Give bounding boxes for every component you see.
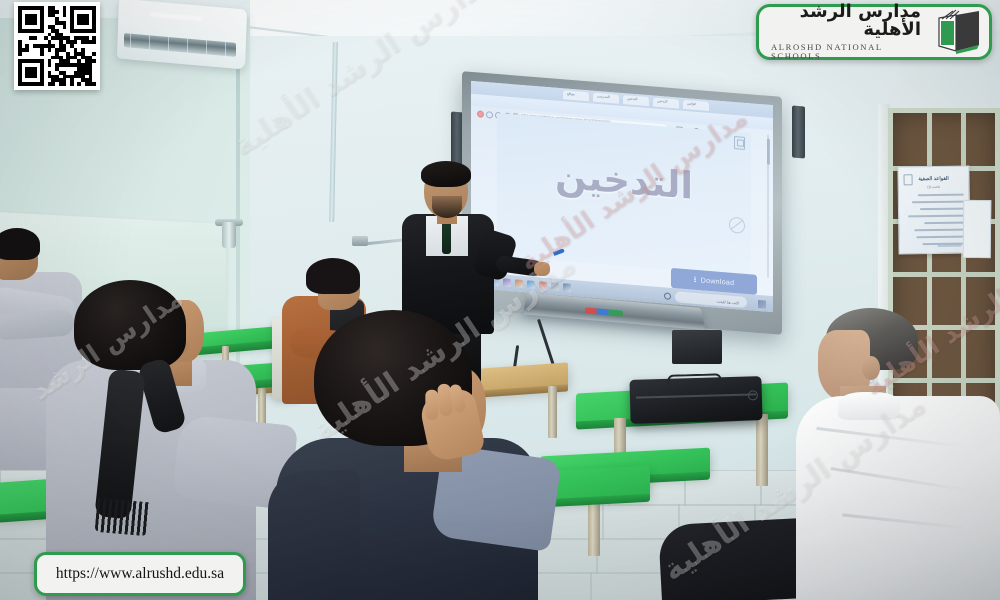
thobe-man-collar: [838, 392, 900, 420]
browser-tab-label: التدخين: [627, 96, 637, 101]
scrollbar-thumb[interactable]: [767, 139, 770, 165]
taskbar-app-icon[interactable]: [551, 282, 559, 291]
website-url-text: https://www.alrushd.edu.sa: [56, 565, 224, 583]
poster-text-line: [920, 208, 964, 211]
taskbar-app-icon[interactable]: [503, 278, 511, 287]
thobe-man-body: [796, 396, 1000, 600]
ac-louver: [206, 40, 207, 54]
ac-louver: [149, 35, 150, 49]
board-screen[interactable]: قوانينالتدخينالتدخينالمدرسيمواقع https:/…: [471, 81, 773, 312]
desk-leg-center-right: [548, 386, 557, 438]
browser-menu-icon[interactable]: [477, 110, 484, 118]
student-b-hair: [74, 280, 186, 370]
logo-english-name: ALROSHD NATIONAL SCHOOLS: [771, 43, 921, 60]
download-icon: ⭳: [694, 276, 697, 284]
classroom-photo: القواعد الصفية قاعدة (1) قوانينالتدخينال…: [0, 0, 1000, 600]
teacher-beard: [432, 196, 462, 218]
website-url-badge[interactable]: https://www.alrushd.edu.sa: [34, 552, 246, 596]
blind-rod: [222, 222, 236, 248]
ac-louver: [130, 34, 131, 48]
browser-tab-label: التدخين: [657, 99, 667, 104]
poster-text-line: [912, 201, 964, 204]
browser-tab-label: مواقع: [567, 92, 575, 97]
student-a-hair: [0, 228, 40, 260]
poster-signature: [937, 245, 961, 247]
poster-subtitle: قاعدة (1): [899, 185, 969, 190]
ac-louver: [225, 42, 226, 56]
interactive-whiteboard[interactable]: قوانينالتدخينالتدخينالمدرسيمواقع https:/…: [462, 71, 782, 335]
slide-page: التدخين: [497, 113, 751, 276]
thobe-man-ear: [862, 356, 880, 380]
taskbar-app-icon[interactable]: [563, 283, 571, 292]
windows-start-icon[interactable]: [758, 299, 766, 308]
poster-text-line: [918, 194, 964, 197]
download-label: Download: [701, 277, 735, 287]
floor-tile: [590, 572, 668, 600]
taskbar-app-icon[interactable]: [527, 280, 535, 289]
ac-louver: [187, 39, 188, 53]
logo-arabic-name: مدارس الرشد الأهلية: [771, 3, 921, 39]
student-d-shoulder: [268, 470, 360, 600]
taskbar-app-icon[interactable]: [515, 279, 523, 288]
grid-window: [888, 108, 1000, 438]
projector-head: [352, 236, 368, 246]
teacher-hair: [421, 161, 471, 187]
browser-tab-label: قوانين: [687, 101, 696, 106]
poster-text-line: [908, 215, 964, 218]
bookmark-icon[interactable]: [734, 136, 745, 150]
teacher-tie: [442, 220, 451, 254]
green-table-leg-right: [756, 414, 768, 486]
window-mullion-h: [893, 378, 995, 383]
teacher-hand: [534, 262, 550, 276]
poster-text-line: [914, 229, 964, 232]
search-icon: [664, 292, 671, 300]
no-smoking-icon: [729, 217, 745, 234]
qr-code[interactable]: [14, 2, 100, 90]
taskbar-app-icon[interactable]: [539, 281, 547, 290]
open-book-logo-icon: [929, 9, 981, 55]
window-mullion-v: [927, 113, 932, 433]
poster-text-line: [924, 222, 964, 225]
window-mullion-v: [961, 113, 966, 433]
ac-louver: [168, 37, 169, 51]
window-mullion-h: [893, 272, 995, 277]
black-equipment-box: [672, 330, 722, 364]
classroom-rules-poster: القواعد الصفية قاعدة (1): [897, 166, 970, 255]
poster-text-line: [916, 236, 964, 239]
school-logo-badge: مدارس الرشد الأهلية ALROSHD NATIONAL SCH…: [756, 4, 992, 60]
secondary-notice: [963, 200, 992, 258]
board-mount-right: [792, 105, 805, 158]
poster-title: القواعد الصفية: [899, 176, 969, 183]
back-icon[interactable]: [486, 111, 493, 119]
student-b-scarf-fringe: [95, 498, 150, 536]
black-laptop-bag: [629, 376, 762, 424]
qr-code-modules: [18, 6, 96, 86]
slide-title: التدخين: [497, 149, 751, 212]
student-c-hair: [306, 258, 360, 294]
